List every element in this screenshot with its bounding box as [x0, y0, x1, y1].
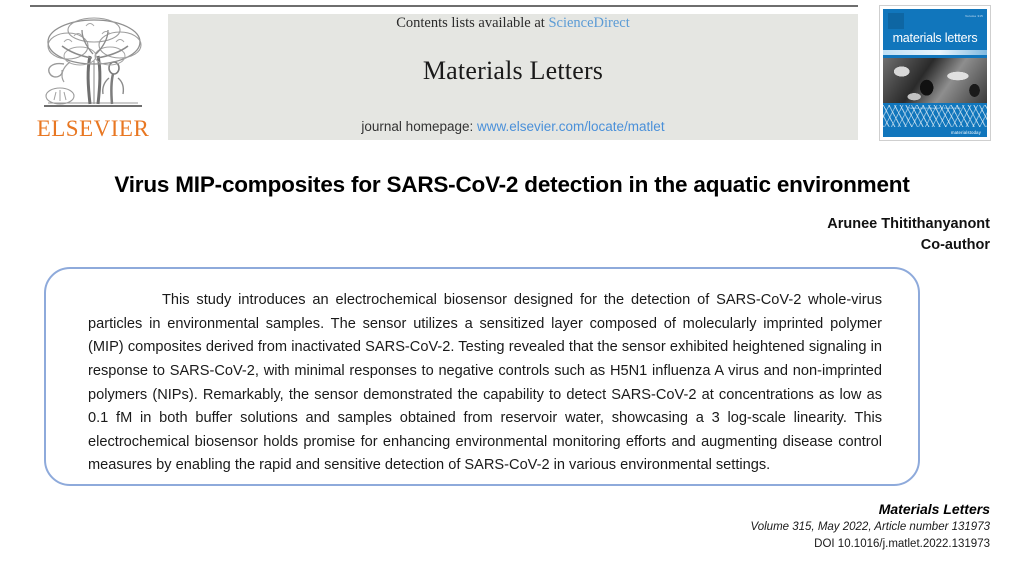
cover-issue-label: Volume 315 — [965, 14, 983, 18]
citation-volume-line: Volume 315, May 2022, Article number 131… — [370, 519, 990, 536]
elsevier-logo: ELSEVIER — [24, 12, 162, 140]
elsevier-wordmark: ELSEVIER — [24, 116, 162, 142]
page-title: Virus MIP-composites for SARS-CoV-2 dete… — [40, 172, 984, 198]
author-name: Arunee Thitithanyanont — [350, 214, 990, 235]
citation-doi-line: DOI 10.1016/j.matlet.2022.131973 — [370, 536, 990, 553]
cover-journal-title: materials letters — [883, 31, 987, 45]
cover-micrograph-image — [883, 58, 987, 103]
cover-artwork: Volume 315 materials letters Selected pa… — [883, 9, 987, 137]
cover-brand-label: materialstoday — [951, 130, 981, 135]
cover-wave-pattern — [883, 105, 987, 127]
journal-cover-thumbnail: Volume 315 materials letters Selected pa… — [879, 5, 991, 141]
cover-stripe — [883, 50, 987, 55]
journal-homepage-link[interactable]: www.elsevier.com/locate/matlet — [477, 119, 665, 134]
author-role: Co-author — [350, 235, 990, 256]
citation-block: Materials Letters Volume 315, May 2022, … — [370, 500, 990, 552]
abstract-box: This study introduces an electrochemical… — [44, 267, 920, 486]
author-block: Arunee Thitithanyanont Co-author — [350, 214, 990, 256]
citation-journal-name: Materials Letters — [370, 500, 990, 519]
elsevier-tree-icon — [24, 12, 162, 116]
header-divider-rule — [30, 5, 858, 7]
journal-homepage-line: journal homepage: www.elsevier.com/locat… — [168, 119, 858, 134]
article-summary-page: Contents lists available at ScienceDirec… — [0, 0, 1024, 576]
cover-elsevier-tree-icon — [888, 13, 904, 29]
abstract-text: This study introduces an electrochemical… — [88, 289, 882, 478]
contents-lists-line: Contents lists available at ScienceDirec… — [168, 15, 858, 32]
journal-homepage-prefix: journal homepage: — [361, 119, 477, 134]
sciencedirect-link[interactable]: ScienceDirect — [548, 15, 629, 31]
journal-name: Materials Letters — [168, 56, 858, 86]
contents-lists-prefix: Contents lists available at — [396, 15, 548, 31]
